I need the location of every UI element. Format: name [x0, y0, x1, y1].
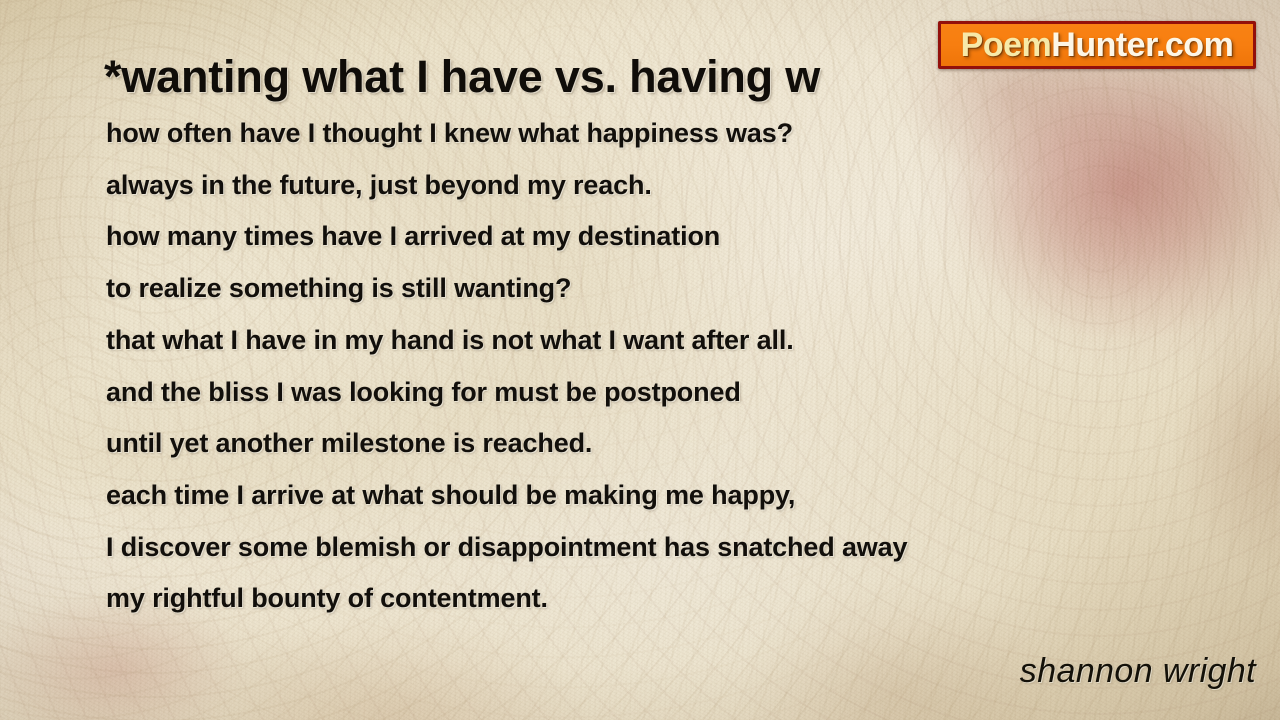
poem-line: my rightful bounty of contentment. [106, 573, 1146, 625]
poem-line: until yet another milestone is reached. [106, 418, 1146, 470]
poem-author: shannon wright [1020, 652, 1256, 691]
poem-line: I discover some blemish or disappointmen… [106, 522, 1146, 574]
poem-body: how often have I thought I knew what hap… [106, 108, 1146, 625]
poem-image-canvas: *wanting what I have vs. having w how of… [0, 0, 1280, 720]
poem-line: and the bliss I was looking for must be … [106, 367, 1146, 419]
brand-name-poem: Poem [961, 28, 1052, 62]
poem-line: that what I have in my hand is not what … [106, 315, 1146, 367]
poem-line: how many times have I arrived at my dest… [106, 211, 1146, 263]
brand-name-hunter: Hunter.com [1051, 28, 1233, 62]
poem-line: always in the future, just beyond my rea… [106, 160, 1146, 212]
poem-line: each time I arrive at what should be mak… [106, 470, 1146, 522]
poem-title: *wanting what I have vs. having w [104, 54, 820, 99]
poemhunter-watermark-badge[interactable]: PoemHunter.com [938, 21, 1256, 69]
poem-line: to realize something is still wanting? [106, 263, 1146, 315]
poem-content: *wanting what I have vs. having w how of… [0, 0, 1280, 720]
poemhunter-wordmark: PoemHunter.com [961, 28, 1234, 62]
poem-line: how often have I thought I knew what hap… [106, 108, 1146, 160]
